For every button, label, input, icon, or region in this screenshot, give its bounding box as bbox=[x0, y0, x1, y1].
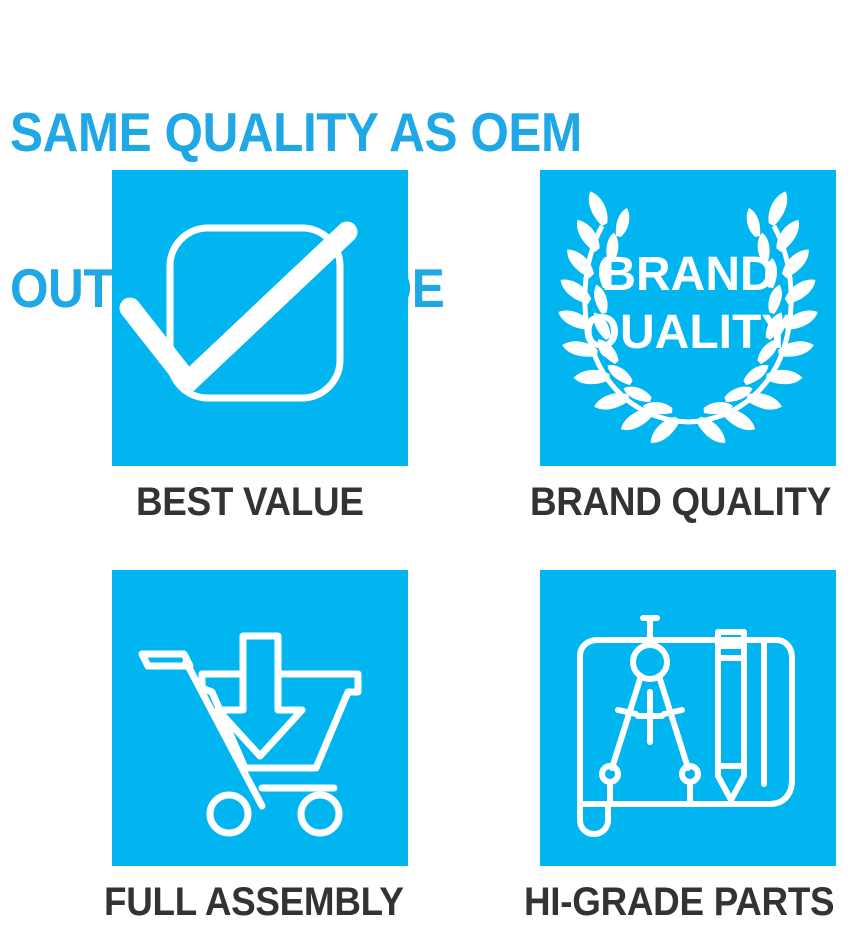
feature-label: BRAND QUALITY bbox=[530, 480, 815, 524]
feature-card-brand-quality: BRAND QUALITY BRAND QUALITY bbox=[540, 170, 840, 524]
feature-label: BEST VALUE bbox=[136, 480, 390, 524]
shopping-cart-download-icon bbox=[112, 570, 408, 866]
laurel-wreath-icon: BRAND QUALITY bbox=[540, 170, 836, 466]
feature-grid: BEST VALUE bbox=[0, 170, 862, 929]
headline-line-1: SAME QUALITY AS OEM bbox=[10, 106, 766, 158]
wreath-text-line-2: QUALITY bbox=[583, 306, 794, 359]
feature-row: BEST VALUE bbox=[0, 170, 862, 570]
checkbox-check-icon bbox=[112, 170, 408, 466]
blueprint-compass-pencil-icon bbox=[540, 570, 836, 866]
feature-label: HI-GRADE PARTS bbox=[524, 880, 815, 924]
feature-icon-tile bbox=[540, 570, 836, 866]
feature-icon-tile bbox=[112, 170, 408, 466]
wreath-text-line-1: BRAND bbox=[601, 248, 774, 301]
promo-graphic: SAME QUALITY AS OEM OUTSIDE + INSIDE BES… bbox=[0, 0, 862, 929]
feature-card-hi-grade-parts: HI-GRADE PARTS bbox=[540, 570, 840, 924]
feature-label: FULL ASSEMBLY bbox=[104, 880, 387, 924]
feature-icon-tile: BRAND QUALITY bbox=[540, 170, 836, 466]
feature-card-best-value: BEST VALUE bbox=[112, 170, 412, 524]
feature-icon-tile bbox=[112, 570, 408, 866]
feature-row: FULL ASSEMBLY bbox=[0, 570, 862, 929]
feature-card-full-assembly: FULL ASSEMBLY bbox=[112, 570, 412, 924]
